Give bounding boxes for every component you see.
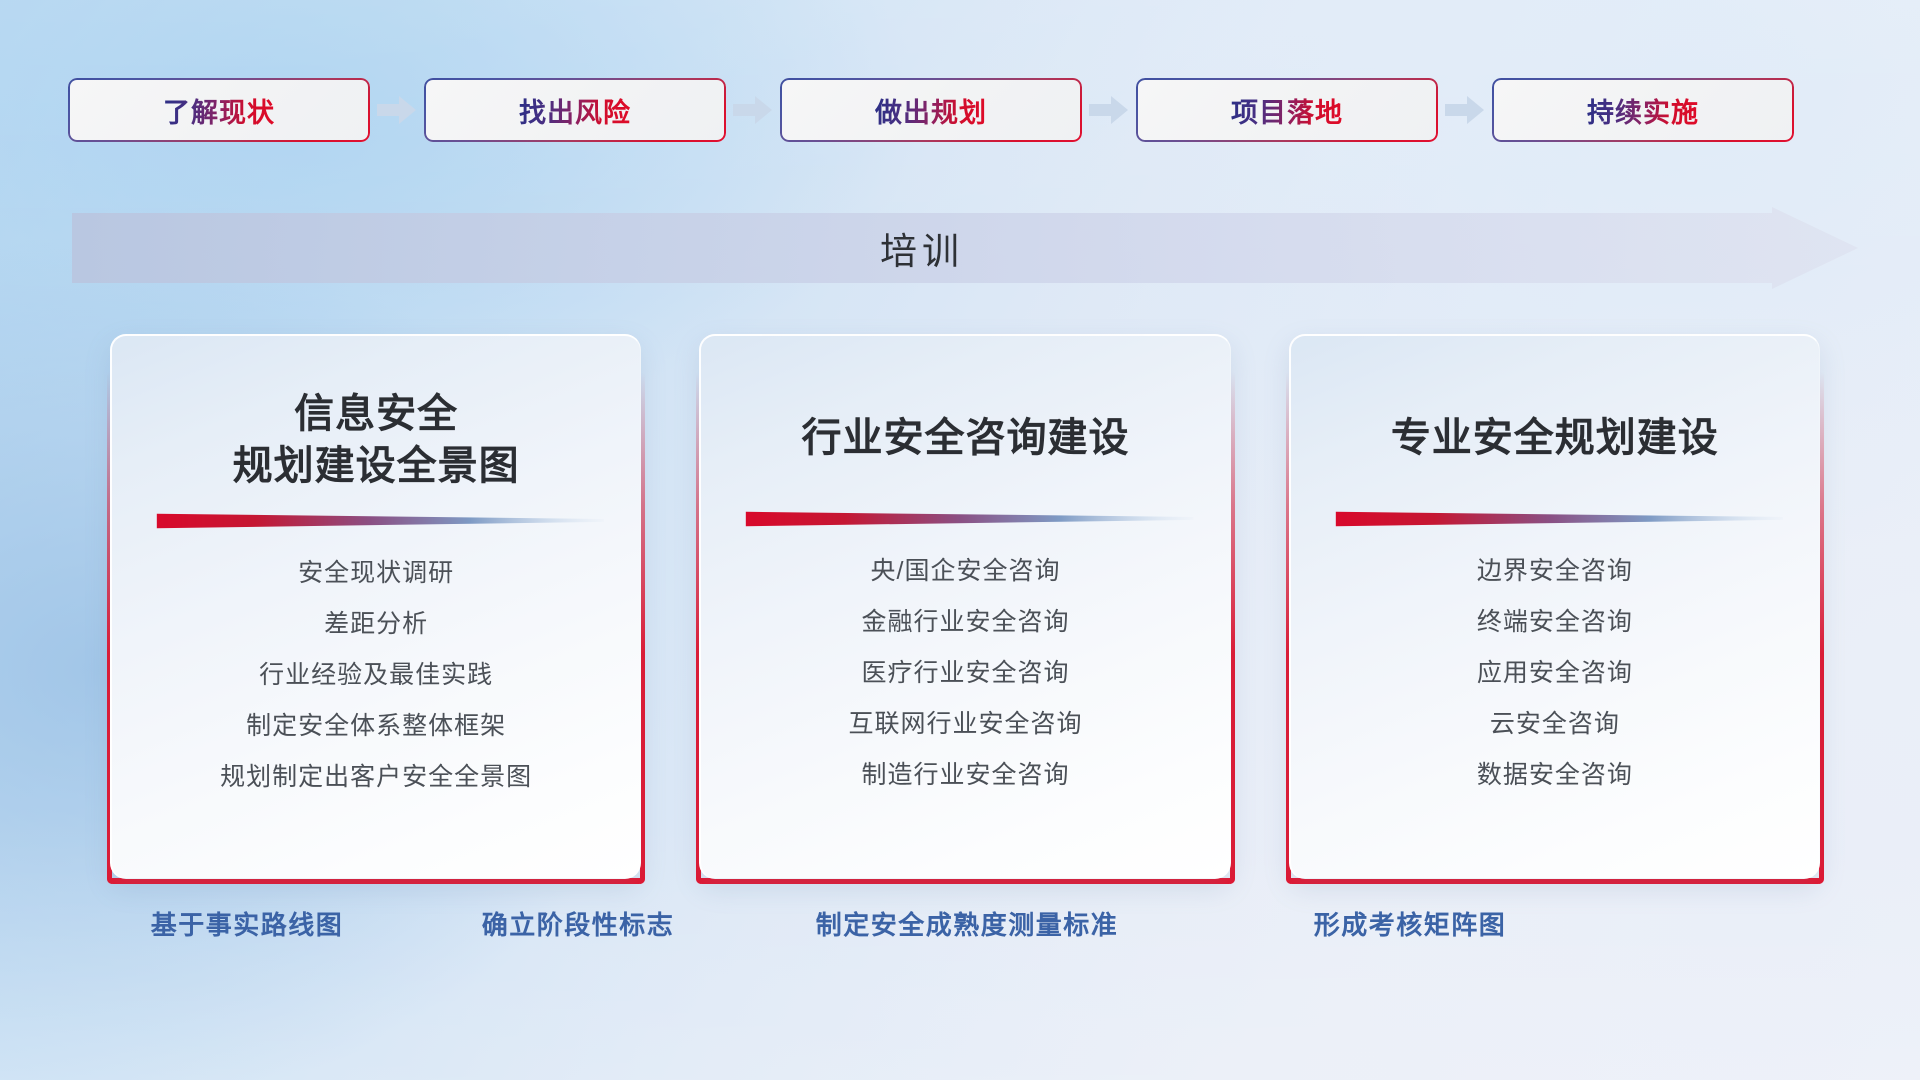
card-information-security-panorama[interactable]: 信息安全 规划建设全景图 [110,334,641,879]
step-box-2[interactable]: 找出风险 [424,78,726,142]
card-divider [739,506,1193,532]
card-item-list: 边界安全咨询 终端安全咨询 应用安全咨询 云安全咨询 数据安全咨询 [1317,546,1793,801]
list-item: 制造行业安全咨询 [727,750,1203,801]
card-industry-security-consulting[interactable]: 行业安全咨询建设 [699,334,1230,879]
list-item: 金融行业安全咨询 [727,597,1203,648]
card-item-list: 央/国企安全咨询 金融行业安全咨询 医疗行业安全咨询 互联网行业安全咨询 制造行… [727,546,1203,801]
step-label: 持续实施 [1587,91,1699,130]
card-professional-security-planning[interactable]: 专业安全规划建设 [1289,334,1820,879]
card-title: 行业安全咨询建设 [727,384,1203,490]
list-item: 应用安全咨询 [1317,648,1793,699]
step-arrow-icon-2 [726,90,780,130]
step-label: 项目落地 [1231,91,1343,130]
training-banner: 培训 [72,207,1858,289]
card-group: 信息安全 规划建设全景图 [110,334,1820,879]
step-label: 做出规划 [875,91,987,130]
card-accent-bottom [107,878,645,884]
list-item: 制定安全体系整体框架 [138,701,614,752]
step-box-3[interactable]: 做出规划 [780,78,1082,142]
step-arrow-icon-4 [1438,90,1492,130]
card-title: 专业安全规划建设 [1317,384,1793,490]
card-accent-bottom [1286,878,1824,884]
card-divider [1329,506,1783,532]
footer-label-4: 形成考核矩阵图 [1314,905,1507,942]
list-item: 终端安全咨询 [1317,597,1793,648]
list-item: 央/国企安全咨询 [727,546,1203,597]
list-item: 行业经验及最佳实践 [138,650,614,701]
step-label: 找出风险 [519,91,631,130]
list-item: 差距分析 [138,599,614,650]
slide-canvas: 了解现状 找出风险 做出规划 项目落地 [0,0,1920,1080]
list-item: 互联网行业安全咨询 [727,699,1203,750]
footer-label-row: 基于事实路线图 确立阶段性标志 制定安全成熟度测量标准 形成考核矩阵图 [0,905,1920,953]
step-label: 了解现状 [163,91,275,130]
list-item: 安全现状调研 [138,548,614,599]
card-accent-bottom [696,878,1234,884]
footer-label-2: 确立阶段性标志 [482,905,675,942]
footer-label-1: 基于事实路线图 [151,905,344,942]
list-item: 云安全咨询 [1317,699,1793,750]
list-item: 医疗行业安全咨询 [727,648,1203,699]
step-box-1[interactable]: 了解现状 [68,78,370,142]
card-divider [150,508,604,534]
list-item: 规划制定出客户安全全景图 [138,752,614,803]
list-item: 数据安全咨询 [1317,750,1793,801]
step-box-4[interactable]: 项目落地 [1136,78,1438,142]
step-arrow-icon-1 [370,90,424,130]
step-box-5[interactable]: 持续实施 [1492,78,1794,142]
list-item: 边界安全咨询 [1317,546,1793,597]
card-title: 信息安全 规划建设全景图 [138,388,614,492]
step-arrow-icon-3 [1082,90,1136,130]
footer-label-3: 制定安全成熟度测量标准 [816,905,1119,942]
banner-title: 培训 [72,207,1772,289]
card-item-list: 安全现状调研 差距分析 行业经验及最佳实践 制定安全体系整体框架 规划制定出客户… [138,548,614,803]
process-step-row: 了解现状 找出风险 做出规划 项目落地 [68,76,1858,144]
